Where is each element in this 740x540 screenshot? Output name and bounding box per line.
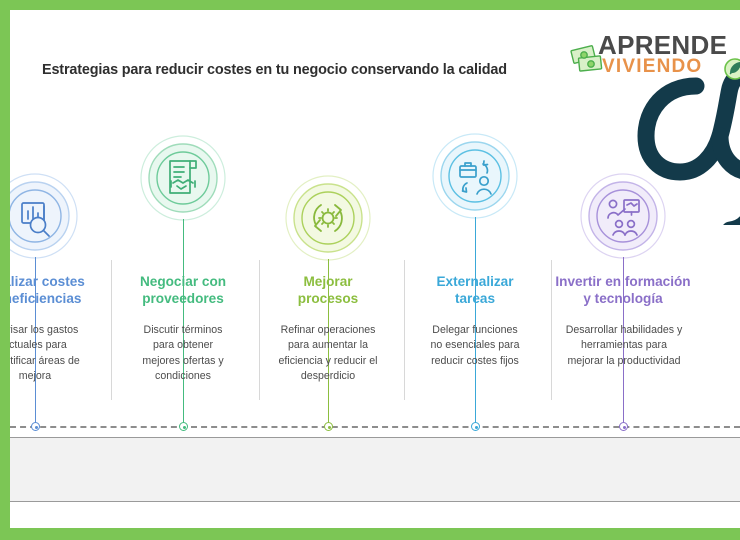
timeline-node	[619, 422, 628, 431]
step-body: Delegar funciones no esenciales para red…	[400, 323, 550, 369]
timeline-node	[324, 422, 333, 431]
briefcase-person-icon	[432, 133, 518, 219]
timeline-step-1[interactable]: Analizar costes e ineficiencias Revisar …	[10, 10, 112, 430]
connector-line	[475, 217, 476, 427]
step-body: Refinar operaciones para aumentar la efi…	[253, 323, 403, 384]
training-presentation-icon	[580, 173, 666, 259]
timeline-step-4[interactable]: Externalizar tareas Delegar funciones no…	[398, 10, 552, 430]
step-body: Discutir términos para obtener mejores o…	[108, 323, 258, 384]
infographic-page: Estrategias para reducir costes en tu ne…	[10, 10, 740, 528]
infographic-canvas: Estrategias para reducir costes en tu ne…	[0, 0, 740, 540]
chart-magnifier-icon	[10, 173, 78, 259]
step-body: Revisar los gastos actuales para identif…	[10, 323, 110, 384]
step-heading: Mejorar procesos	[251, 274, 405, 307]
step-heading: Invertir en formación y tecnología	[529, 274, 717, 307]
timeline-node	[179, 422, 188, 431]
timeline-node	[471, 422, 480, 431]
timeline-step-2[interactable]: Negociar con proveedores Discutir términ…	[106, 10, 260, 430]
step-heading: Negociar con proveedores	[106, 274, 260, 307]
gear-cycle-icon	[285, 175, 371, 261]
timeline-step-5[interactable]: Invertir en formación y tecnología Desar…	[546, 10, 740, 430]
bottom-band	[10, 437, 740, 502]
contract-handshake-icon	[140, 135, 226, 221]
timeline-node	[31, 422, 40, 431]
step-body: Desarrollar habilidades y herramientas p…	[532, 323, 716, 369]
timeline-step-3[interactable]: Mejorar procesos Refinar operaciones par…	[251, 10, 405, 430]
step-heading: Analizar costes e ineficiencias	[10, 274, 112, 307]
